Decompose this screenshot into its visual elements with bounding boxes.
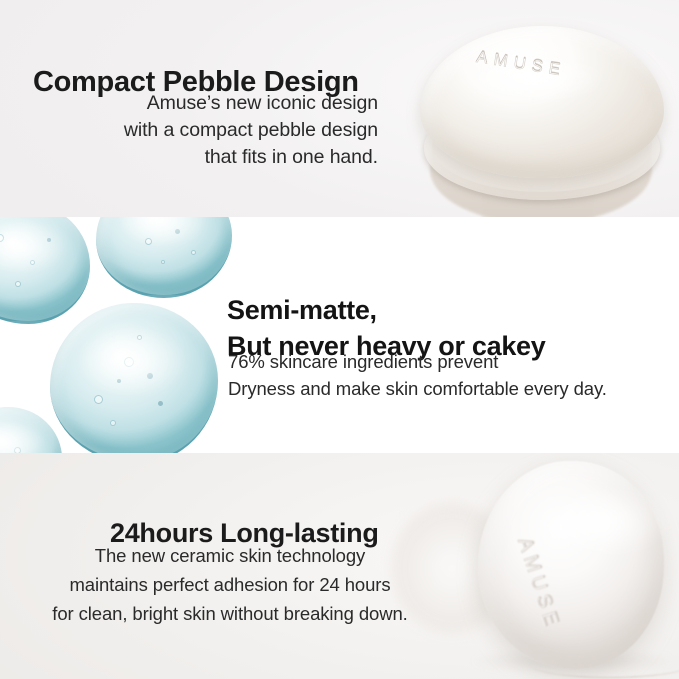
compact-seam	[530, 651, 679, 678]
panel3-body-line-1: The new ceramic skin technology	[20, 541, 440, 570]
panel2-body-line-2: Dryness and make skin comfortable every …	[228, 375, 607, 402]
compact-body: AMUSE	[478, 461, 664, 669]
gel-bubble	[158, 401, 163, 406]
gel-droplet-1	[0, 217, 90, 324]
panel2-body-line-1: 76% skincare ingredients prevent	[228, 348, 607, 375]
panel-semi-matte: Semi-matte, But never heavy or cakey 76%…	[0, 217, 679, 453]
gel-bubble	[147, 373, 153, 379]
gel-bubble	[30, 260, 35, 265]
panel2-heading-line-1: Semi-matte,	[227, 292, 545, 328]
gel-bubble	[117, 379, 121, 383]
product-feature-infographic: AMUSE Compact Pebble Design Amuse’s new …	[0, 0, 679, 679]
gel-bubble	[191, 250, 196, 255]
panel-24hours-long-lasting: AMUSE 24hours Long-lasting The new ceram…	[0, 453, 679, 679]
blurred-pebble-compact-image: AMUSE	[440, 453, 679, 679]
gel-bubble	[137, 335, 142, 340]
gel-bubble	[94, 395, 103, 404]
panel2-body: 76% skincare ingredients prevent Dryness…	[228, 348, 607, 402]
gel-bubble	[110, 420, 116, 426]
panel-compact-pebble-design: AMUSE Compact Pebble Design Amuse’s new …	[0, 0, 679, 217]
gel-droplet-2	[96, 217, 232, 298]
panel1-body: Amuse’s new iconic design with a compact…	[118, 90, 378, 171]
gel-bubble	[15, 281, 21, 287]
panel3-body: The new ceramic skin technology maintain…	[20, 541, 440, 628]
gel-bubble	[47, 238, 51, 242]
gel-bubble	[161, 260, 165, 264]
gel-bubble	[0, 234, 4, 242]
brand-emboss-amuse: AMUSE	[512, 535, 564, 634]
panel3-body-line-2: maintains perfect adhesion for 24 hours	[20, 570, 440, 599]
compact-highlight	[538, 487, 668, 557]
gel-bubble	[145, 238, 152, 245]
panel1-body-line-1: Amuse’s new iconic design	[118, 90, 378, 117]
gel-droplet-3	[50, 303, 218, 453]
panel3-body-line-3: for clean, bright skin without breaking …	[20, 599, 440, 628]
pebble-compact-product-image: AMUSE	[414, 10, 670, 217]
gel-bubble	[175, 229, 180, 234]
gel-bubble	[124, 357, 134, 367]
panel1-body-line-3: that fits in one hand.	[118, 144, 378, 171]
panel1-body-line-2: with a compact pebble design	[118, 117, 378, 144]
gel-droplet-4	[0, 407, 62, 453]
compact-lid	[420, 26, 664, 178]
